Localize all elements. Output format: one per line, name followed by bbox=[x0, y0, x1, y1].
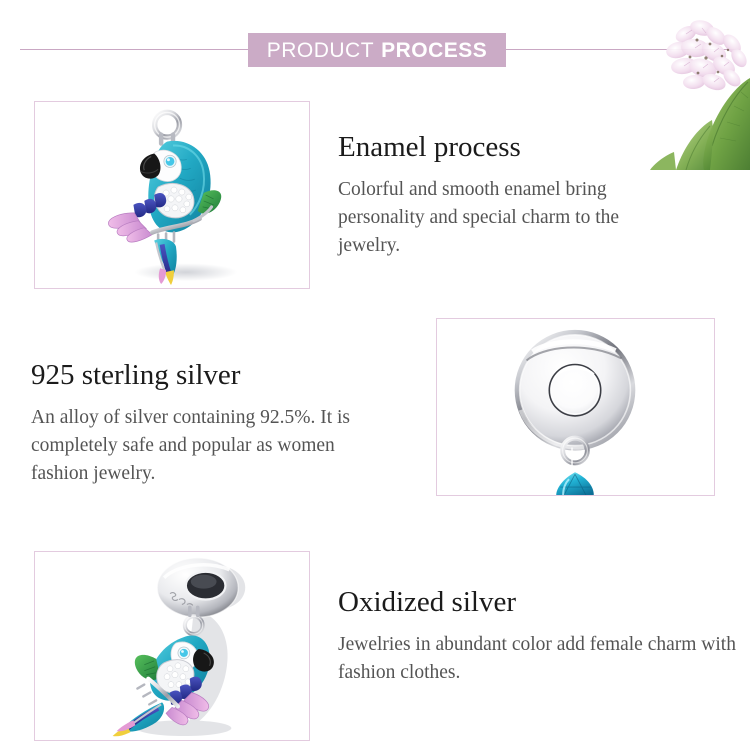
product-image-frame-oxidized bbox=[34, 551, 310, 741]
section-heading-enamel: Enamel process bbox=[338, 130, 638, 164]
page-title-bold: PROCESS bbox=[381, 40, 487, 61]
lilac-flower-sprig-icon bbox=[640, 0, 750, 170]
page-title-light: PRODUCT bbox=[267, 40, 374, 61]
page-header: PRODUCTPROCESS bbox=[0, 33, 750, 67]
product-image-frame-sterling bbox=[436, 318, 715, 496]
product-process-page: PRODUCTPROCESS bbox=[0, 0, 750, 750]
product-image-frame-enamel bbox=[34, 101, 310, 289]
section-heading-oxidized: Oxidized silver bbox=[338, 585, 738, 619]
parrot-enamel-charm-illustration bbox=[35, 102, 309, 288]
section-body-oxidized: Jewelries in abundant color add female c… bbox=[338, 631, 738, 686]
section-text-enamel: Enamel process Colorful and smooth ename… bbox=[338, 130, 638, 259]
silver-bead-closeup-illustration bbox=[437, 319, 714, 495]
page-title-badge: PRODUCTPROCESS bbox=[248, 33, 506, 67]
section-text-oxidized: Oxidized silver Jewelries in abundant co… bbox=[338, 585, 738, 687]
section-body-sterling: An alloy of silver containing 92.5%. It … bbox=[31, 404, 391, 487]
section-heading-sterling: 925 sterling silver bbox=[31, 358, 391, 392]
parrot-dangle-charm-illustration bbox=[35, 552, 309, 740]
section-body-enamel: Colorful and smooth enamel bring persona… bbox=[338, 176, 638, 259]
section-text-sterling: 925 sterling silver An alloy of silver c… bbox=[31, 358, 391, 487]
